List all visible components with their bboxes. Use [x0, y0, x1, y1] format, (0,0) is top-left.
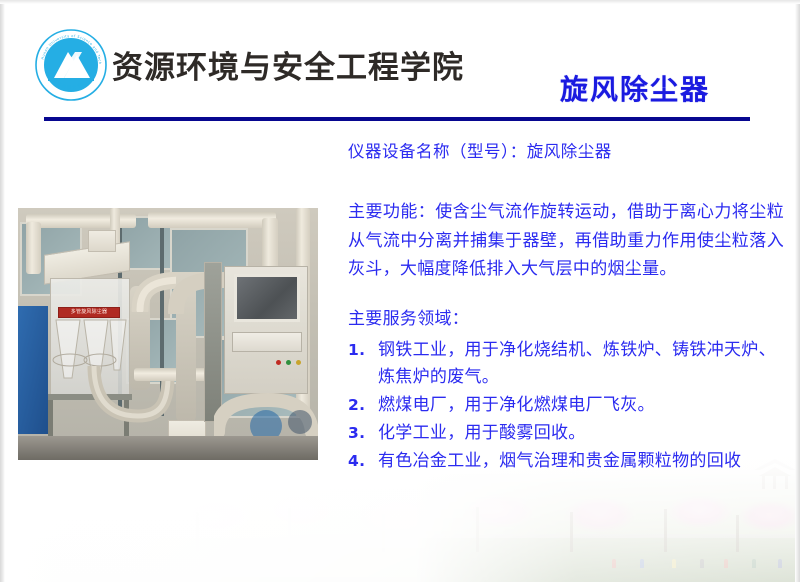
list-item: 4. 有色冶金工业，烟气治理和贵金属颗粒物的回收	[348, 448, 784, 475]
photo-overhead-duct	[148, 212, 276, 228]
photo-hmi-screen	[234, 274, 300, 322]
slide-title: 旋风除尘器	[560, 68, 710, 108]
scenery-ground	[0, 538, 800, 582]
school-name-title: 资源环境与安全工程学院	[112, 42, 464, 87]
photo-meter-row	[232, 332, 302, 352]
page-edge-right	[795, 0, 800, 582]
scenery-cherry-blossom-row	[0, 482, 800, 552]
photo-blue-tarp	[18, 306, 48, 434]
scenery-hill-band	[0, 474, 800, 500]
scenery-person	[752, 559, 756, 568]
scenery-tree	[104, 506, 107, 552]
scenery-tree	[736, 515, 739, 552]
photo-equipment-red-label: 多管旋风除尘器	[58, 307, 120, 318]
scenery-person	[700, 559, 704, 568]
scenery-person	[672, 559, 676, 568]
slide-root: Hunan University of Science and Technolo…	[0, 0, 800, 582]
equipment-photo: 多管旋风除尘器	[18, 208, 318, 460]
photo-vertical-duct	[26, 222, 41, 274]
list-item-number: 1.	[348, 337, 370, 364]
list-item-number: 2.	[348, 392, 370, 419]
list-item: 3. 化学工业，用于酸雾回收。	[348, 420, 784, 447]
scenery-path	[0, 534, 800, 546]
list-item: 2. 燃煤电厂，用于净化燃煤电厂飞灰。	[348, 392, 784, 419]
photo-button-amber	[296, 360, 301, 365]
header-divider-rule	[44, 117, 750, 121]
photo-floor	[18, 436, 318, 460]
slide-header: Hunan University of Science and Technolo…	[0, 0, 800, 120]
scenery-tree	[196, 512, 199, 552]
scenery-tree	[288, 508, 291, 552]
list-item-label: 化学工业，用于酸雾回收。	[378, 423, 586, 443]
scenery-person	[724, 559, 728, 568]
slide-body-text: 仪器设备名称（型号）：旋风除尘器 主要功能：使含尘气流作旋转运动，借助于离心力将…	[348, 140, 784, 476]
scenery-person	[778, 559, 782, 568]
scenery-person	[640, 559, 644, 568]
photo-horizontal-duct	[134, 368, 214, 381]
service-fields-heading: 主要服务领域：	[348, 306, 784, 333]
scenery-tree	[570, 512, 573, 552]
list-item-label: 有色冶金工业，烟气治理和贵金属颗粒物的回收	[378, 451, 741, 471]
scenery-tree	[476, 507, 479, 552]
photo-button-red	[276, 360, 281, 365]
photo-button-green	[286, 360, 291, 365]
photo-feed-inlet	[88, 230, 116, 252]
page-edge-top	[0, 0, 800, 4]
scenery-tree	[382, 514, 385, 552]
service-fields-list: 1. 钢铁工业，用于净化烧结机、炼铁炉、铸铁冲天炉、炼焦炉的废气。 2. 燃煤电…	[348, 337, 784, 475]
page-edge-left	[0, 0, 5, 582]
list-item-label: 燃煤电厂，用于净化燃煤电厂飞灰。	[378, 395, 655, 415]
list-item-label: 钢铁工业，用于净化烧结机、炼铁炉、铸铁冲天炉、炼焦炉的废气。	[378, 340, 776, 387]
list-item-number: 4.	[348, 448, 370, 475]
list-item: 1. 钢铁工业，用于净化烧结机、炼铁炉、铸铁冲天炉、炼焦炉的废气。	[348, 337, 784, 391]
equipment-name-line: 仪器设备名称（型号）：旋风除尘器	[348, 140, 784, 164]
main-function-paragraph: 主要功能：使含尘气流作旋转运动，借助于离心力将尘粒从气流中分离并捕集于器壁，再借…	[348, 198, 784, 284]
scenery-tree	[664, 509, 667, 552]
list-item-number: 3.	[348, 420, 370, 447]
school-emblem-logo-icon: Hunan University of Science and Technolo…	[34, 28, 108, 102]
scenery-person	[612, 559, 616, 568]
